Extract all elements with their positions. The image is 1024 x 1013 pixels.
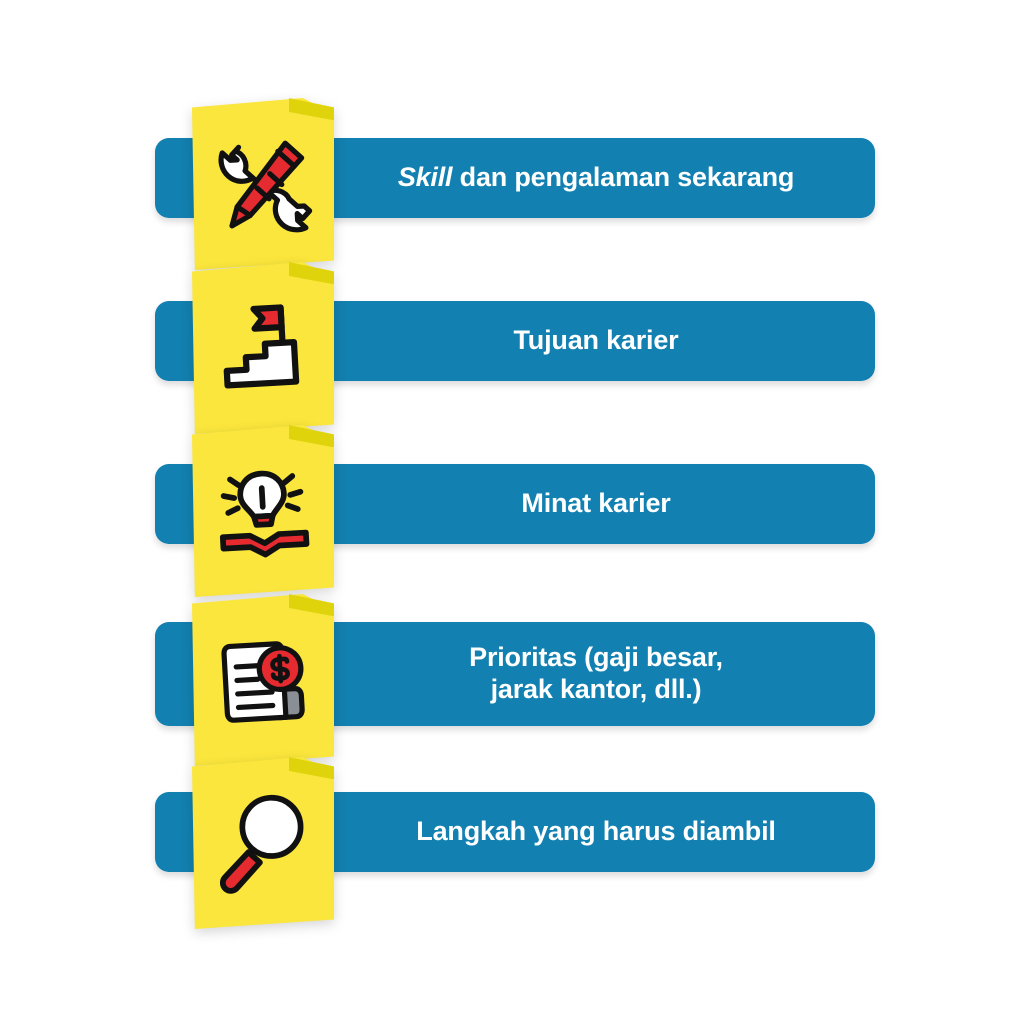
item-label-3: Minat karier bbox=[521, 488, 670, 520]
infographic-checklist: Skill dan pengalaman sekarang bbox=[0, 0, 1024, 1013]
item-label-1-rest: dan pengalaman sekarang bbox=[452, 162, 794, 192]
item-label-2: Tujuan karier bbox=[514, 325, 679, 357]
item-label-4: Prioritas (gaji besar, jarak kantor, dll… bbox=[469, 642, 723, 706]
item-card-1[interactable] bbox=[192, 98, 334, 270]
invoice-with-dollar-coin-icon bbox=[208, 625, 318, 735]
item-card-2[interactable] bbox=[192, 262, 334, 434]
item-card-4[interactable] bbox=[192, 594, 334, 766]
item-label-1-emphasis: Skill bbox=[398, 162, 453, 192]
magnifying-glass-icon bbox=[208, 788, 318, 898]
item-card-3[interactable] bbox=[192, 425, 334, 597]
item-label-5: Langkah yang harus diambil bbox=[416, 816, 775, 848]
item-card-5[interactable] bbox=[192, 757, 334, 929]
item-label-1: Skill dan pengalaman sekarang bbox=[398, 162, 794, 194]
wrench-and-pencil-icon bbox=[208, 129, 318, 239]
stairs-with-flag-icon bbox=[208, 293, 318, 403]
lightbulb-over-open-book-icon bbox=[208, 456, 318, 566]
